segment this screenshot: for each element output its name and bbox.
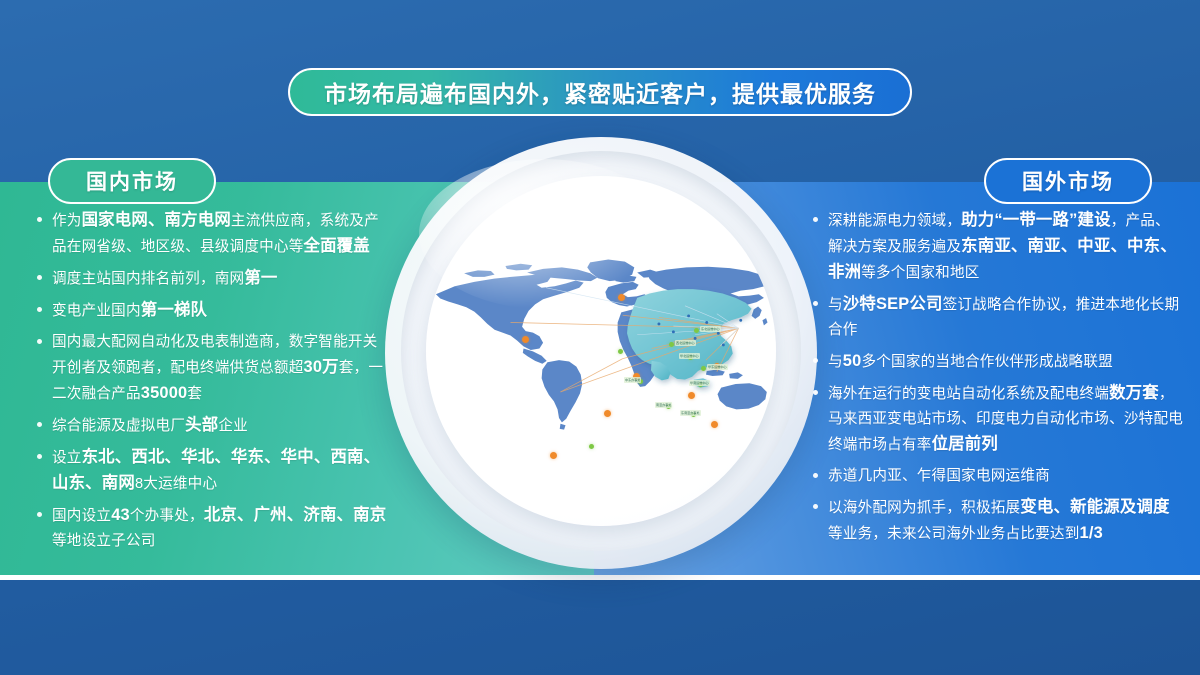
slide-root: 市场布局遍布国内外，紧密贴近客户，提供最优服务 国内市场 作为国家电网、南方电网… bbox=[0, 0, 1200, 675]
domestic-market-list: 作为国家电网、南方电网主流供应商，系统及产品在网省级、地区级、县级调度中心等全面… bbox=[36, 208, 388, 560]
overseas-market-badge: 国外市场 bbox=[984, 158, 1152, 204]
list-item: 与50多个国家的当地合作伙伴形成战略联盟 bbox=[812, 349, 1184, 375]
overseas-market-list: 深耕能源电力领域，助力“一带一路”建设，产品、解决方案及服务遍及东南亚、南亚、中… bbox=[812, 208, 1184, 553]
list-item: 国内最大配网自动化及电表制造商，数字智能开关开创者及领跑者，配电终端供货总额超3… bbox=[36, 330, 388, 407]
domestic-market-badge-label: 国内市场 bbox=[86, 166, 178, 196]
list-item: 调度主站国内排名前列，南网第一 bbox=[36, 266, 388, 292]
list-item: 以海外配网为抓手，积极拓展变电、新能源及调度等业务，未来公司海外业务占比要达到1… bbox=[812, 495, 1184, 547]
list-item: 赤道几内亚、乍得国家电网运维商 bbox=[812, 464, 1184, 489]
overseas-market-badge-label: 国外市场 bbox=[1022, 166, 1114, 196]
list-item: 设立东北、西北、华北、华东、华中、西南、山东、南网8大运维中心 bbox=[36, 445, 388, 497]
list-item: 变电产业国内第一梯队 bbox=[36, 298, 388, 324]
slide-title-text: 市场布局遍布国内外，紧密贴近客户，提供最优服务 bbox=[324, 75, 876, 109]
domestic-market-badge: 国内市场 bbox=[48, 158, 216, 204]
list-item: 国内设立43个办事处，北京、广州、济南、南京等地设立子公司 bbox=[36, 503, 388, 554]
list-item: 综合能源及虚拟电厂头部企业 bbox=[36, 413, 388, 439]
list-item: 深耕能源电力领域，助力“一带一路”建设，产品、解决方案及服务遍及东南亚、南亚、中… bbox=[812, 208, 1184, 286]
list-item: 海外在运行的变电站自动化系统及配电终端数万套，马来西亚变电站市场、印度电力自动化… bbox=[812, 381, 1184, 458]
list-item: 作为国家电网、南方电网主流供应商，系统及产品在网省级、地区级、县级调度中心等全面… bbox=[36, 208, 388, 260]
slide-title-pill: 市场布局遍布国内外，紧密贴近客户，提供最优服务 bbox=[288, 68, 912, 116]
list-item: 与沙特SEP公司签订战略合作协议，推进本地化长期合作 bbox=[812, 292, 1184, 343]
slide-title-bar: 市场布局遍布国内外，紧密贴近客户，提供最优服务 bbox=[0, 68, 1200, 116]
